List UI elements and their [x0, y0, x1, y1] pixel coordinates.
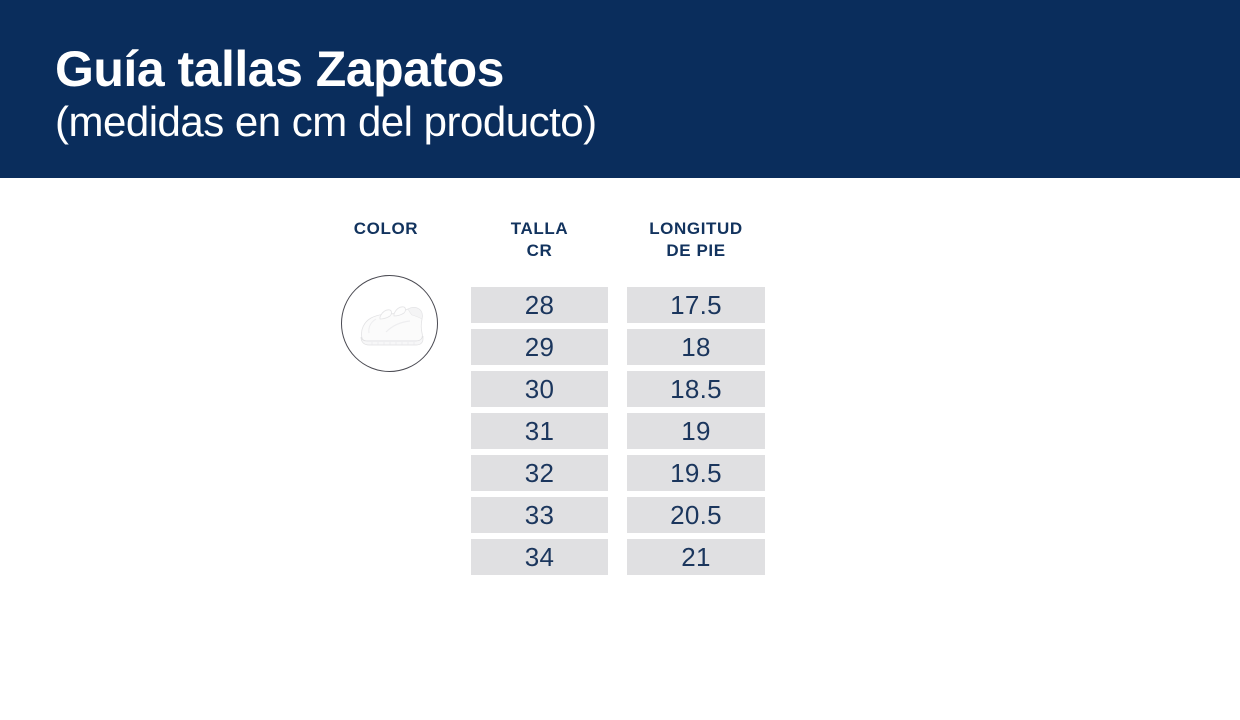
page-subtitle: (medidas en cm del producto): [55, 101, 597, 143]
table-row: 19.5: [627, 455, 765, 491]
table-row: 30: [471, 371, 608, 407]
column-header-talla-line2: CR: [471, 240, 608, 262]
column-header-longitud: LONGITUD DE PIE: [627, 218, 765, 262]
size-guide-table: COLOR TALLA CR LONGITUD DE PIE: [0, 178, 1240, 720]
table-row: 28: [471, 287, 608, 323]
column-header-talla: TALLA CR: [471, 218, 608, 262]
column-header-longitud-line2: DE PIE: [627, 240, 765, 262]
table-row: 21: [627, 539, 765, 575]
column-values-talla: 28 29 30 31 32 33 34: [471, 287, 608, 575]
header-banner: Guía tallas Zapatos (medidas en cm del p…: [0, 0, 1240, 178]
table-row: 19: [627, 413, 765, 449]
column-header-longitud-line1: LONGITUD: [627, 218, 765, 240]
table-row: 29: [471, 329, 608, 365]
table-row: 18.5: [627, 371, 765, 407]
color-swatch-circle: [341, 275, 438, 372]
column-header-color-line1: COLOR: [311, 218, 461, 240]
table-row: 31: [471, 413, 608, 449]
shoe-icon: [342, 276, 438, 372]
column-values-longitud: 17.5 18 18.5 19 19.5 20.5 21: [627, 287, 765, 575]
page-title: Guía tallas Zapatos: [55, 44, 504, 94]
table-row: 17.5: [627, 287, 765, 323]
column-header-talla-line1: TALLA: [471, 218, 608, 240]
column-header-color: COLOR: [311, 218, 461, 240]
table-row: 33: [471, 497, 608, 533]
table-row: 32: [471, 455, 608, 491]
table-row: 20.5: [627, 497, 765, 533]
table-row: 34: [471, 539, 608, 575]
table-row: 18: [627, 329, 765, 365]
